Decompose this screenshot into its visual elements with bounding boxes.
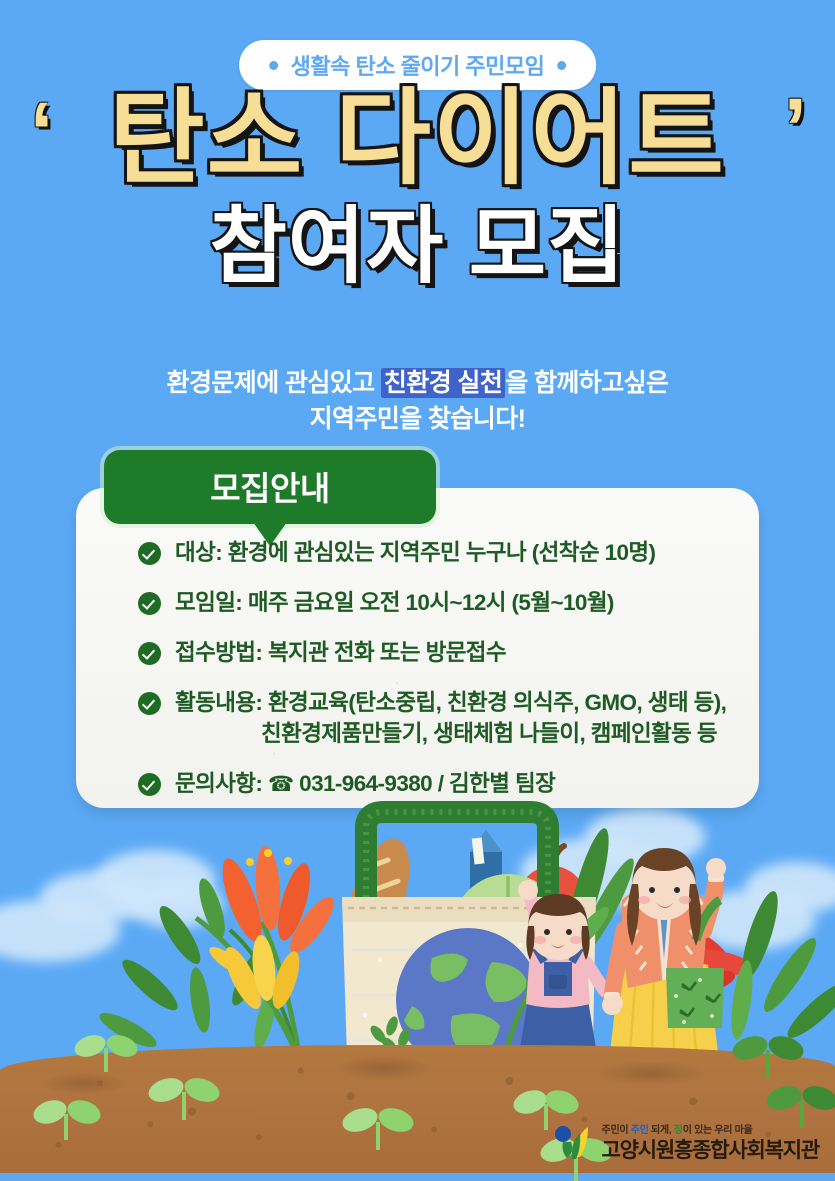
info-card-tab: 모집안내 — [104, 450, 436, 524]
list-item-label: 대상: 환경에 관심있는 지역주민 누구나 (선착순 10명) — [175, 538, 655, 568]
organization-tagline: 주민이 주인 되게, 정이 있는 우리 마을 — [602, 1126, 819, 1136]
bottom-blue-strip — [0, 1173, 835, 1181]
list-item-label-line1: 활동내용: 환경교육(탄소중립, 친환경 의식주, GMO, 생태 등), — [175, 690, 726, 715]
list-item: 접수방법: 복지관 전화 또는 방문접수 — [138, 638, 758, 668]
subtitle-highlight: 친환경 실천 — [381, 368, 505, 398]
cloud-icon — [128, 880, 223, 928]
tagline-jeong: 정 — [674, 1125, 683, 1136]
quote-open-icon: ‘ — [30, 90, 53, 174]
list-item: 활동내용: 환경교육(탄소중립, 친환경 의식주, GMO, 생태 등), 친환… — [138, 688, 758, 748]
cloud-icon — [585, 808, 705, 866]
subtitle-block: 환경문제에 관심있고 친환경 실천을 함께하고싶은 지역주민을 찾습니다! — [0, 366, 835, 437]
list-item: 모임일: 매주 금요일 오전 10시~12시 (5월~10월) — [138, 588, 758, 618]
title-block: ‘ ’ 탄소 다이어트 참여자 모집 — [0, 86, 835, 290]
check-circle-icon — [138, 592, 161, 615]
list-item-label: 접수방법: 복지관 전화 또는 방문접수 — [175, 638, 506, 668]
list-item: 문의사항: ☎ 031-964-9380 / 김한별 팀장 — [138, 769, 758, 799]
list-item-label-line2: 친환경제품만들기, 생태체험 나들이, 캠페인활동 등 — [175, 719, 726, 749]
bullet-dot-icon — [557, 61, 566, 70]
subtitle-line1-post: 을 함께하고싶은 — [505, 369, 668, 397]
subtitle-line1: 환경문제에 관심있고 친환경 실천을 함께하고싶은 — [0, 366, 835, 402]
organization-logo-icon — [554, 1123, 592, 1163]
list-item-label: 문의사항: ☎ 031-964-9380 / 김한별 팀장 — [175, 769, 555, 799]
tagline-owner: 주인 — [631, 1125, 649, 1136]
list-item-label: 모임일: 매주 금요일 오전 10시~12시 (5월~10월) — [175, 588, 614, 618]
list-item-label: 활동내용: 환경교육(탄소중립, 친환경 의식주, GMO, 생태 등), 친환… — [175, 688, 726, 748]
quote-close-icon: ’ — [784, 86, 807, 170]
tagline-part2: 되게, — [649, 1125, 674, 1136]
subtitle-line2: 지역주민을 찾습니다! — [0, 402, 835, 438]
check-circle-icon — [138, 692, 161, 715]
telephone-icon: ☎ — [268, 773, 294, 796]
check-circle-icon — [138, 642, 161, 665]
footer-logo-block: 주민이 주인 되게, 정이 있는 우리 마을 고양시원흥종합사회복지관 — [554, 1123, 819, 1163]
contact-label: 문의사항: — [175, 771, 268, 796]
badge-label: 생활속 탄소 줄이기 주민모임 — [291, 49, 545, 81]
tagline-part1: 주민이 — [602, 1125, 631, 1136]
info-card-tab-label: 모집안내 — [210, 470, 329, 507]
poster-root: 생활속 탄소 줄이기 주민모임 ‘ ’ 탄소 다이어트 참여자 모집 환경문제에… — [0, 0, 835, 1181]
organization-name: 고양시원흥종합사회복지관 — [602, 1140, 819, 1161]
subtitle-line1-pre: 환경문제에 관심있고 — [167, 369, 381, 397]
page-title-line2: 참여자 모집 — [0, 202, 835, 290]
check-circle-icon — [138, 773, 161, 796]
list-item: 대상: 환경에 관심있는 지역주민 누구나 (선착순 10명) — [138, 538, 758, 568]
tagline-part3: 이 있는 우리 마을 — [683, 1125, 753, 1136]
organization-text: 주민이 주인 되게, 정이 있는 우리 마을 고양시원흥종합사회복지관 — [602, 1126, 819, 1161]
info-item-list: 대상: 환경에 관심있는 지역주민 누구나 (선착순 10명) 모임일: 매주 … — [138, 538, 758, 799]
contact-value: 031-964-9380 / 김한별 팀장 — [294, 771, 556, 796]
bullet-dot-icon — [269, 61, 278, 70]
check-circle-icon — [138, 542, 161, 565]
page-title-line1: 탄소 다이어트 — [0, 86, 835, 192]
